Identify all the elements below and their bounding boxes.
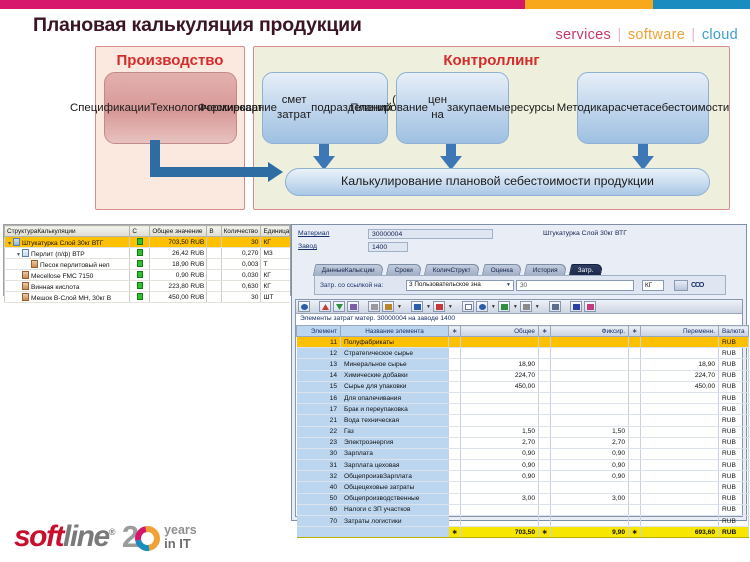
topbar-segment-pink [0, 0, 525, 9]
cell-variable [641, 404, 719, 415]
topbar-segment-orange [525, 0, 653, 9]
cell-dot-1 [449, 493, 461, 504]
arrow-down-icon-3 [632, 144, 654, 170]
cell-currency: RUB [719, 471, 749, 482]
status-chip-green [137, 249, 143, 256]
topbar-segment-blue [653, 0, 750, 9]
cell-currency: RUB [719, 426, 749, 437]
cell-dot-2 [539, 448, 551, 459]
refresh-icon[interactable] [476, 301, 488, 312]
cell-dot-3 [629, 381, 641, 392]
cell-dot-1 [449, 504, 461, 515]
cell-dot-1 [449, 482, 461, 493]
grid-row[interactable]: 31Зарплата цеховая0,900,90RUB [297, 460, 749, 471]
status-chip-green [137, 238, 143, 245]
cell-fixed [551, 415, 629, 426]
cell-name: Затраты логистики [341, 516, 449, 527]
table-header-row: СтруктураКалькуляции С Общее значение В … [5, 226, 290, 237]
cell-currency: RUB [719, 370, 749, 381]
row-status [130, 281, 150, 292]
row-v [207, 237, 221, 248]
col-v[interactable]: В [207, 226, 221, 237]
row-quantity: 0,030 [221, 270, 261, 281]
table-row[interactable]: Песок перлитовый неп18,90 RUB0,003Т [5, 259, 290, 270]
cell-dot-2 [539, 460, 551, 471]
total-total: 703,50 [461, 527, 539, 538]
cell-fixed: 3,00 [551, 493, 629, 504]
cell-dot-2 [539, 337, 551, 348]
cell-element: 22 [297, 426, 341, 437]
chart-icon[interactable] [570, 301, 582, 312]
filter-icon[interactable] [347, 301, 359, 312]
new-doc-icon[interactable] [462, 301, 474, 312]
cell-fixed [551, 381, 629, 392]
cell-variable [641, 460, 719, 471]
row-value: 26,42 RUB [150, 248, 207, 259]
find-icon[interactable] [298, 301, 310, 312]
refresh-caret-icon[interactable]: ▼ [491, 304, 496, 310]
grid-col-fixed[interactable]: Фиксир. [551, 326, 629, 337]
grid-row[interactable]: 22Газ1,501,50RUB [297, 426, 749, 437]
lookup-button[interactable] [674, 280, 688, 291]
top-color-bar [0, 0, 750, 9]
material-input[interactable]: 30000004 [368, 229, 493, 239]
cost-elements-grid[interactable]: ▼ ▼ ▼ ▼ ▼ ▼ Элементы затрат матер. 30000… [295, 299, 743, 517]
cell-name: Общецеховые затраты [341, 482, 449, 493]
cell-variable [641, 415, 719, 426]
cell-total [461, 348, 539, 359]
cell-total [461, 337, 539, 348]
unit-input[interactable]: КГ [642, 280, 664, 291]
grid-row[interactable]: 11ПолуфабрикатыRUB [297, 337, 749, 348]
row-name[interactable]: Песок перлитовый неп [5, 259, 130, 270]
cell-variable [641, 493, 719, 504]
row-quantity: 30 [221, 292, 261, 303]
plant-input[interactable]: 1400 [368, 242, 408, 252]
logo-wordmark: softline® [14, 520, 114, 554]
logo-registered: ® [109, 527, 114, 537]
sort-asc-icon[interactable] [319, 301, 331, 312]
cell-total [461, 482, 539, 493]
status-chip-green [137, 293, 143, 300]
cell-dot-1 [449, 381, 461, 392]
cell-dot-3 [629, 460, 641, 471]
cell-element: 32 [297, 471, 341, 482]
material-label: Материал [298, 230, 368, 237]
row-name[interactable]: ▾Штукатурка Слой 30кг ВТГ [5, 237, 130, 248]
cell-dot-3 [629, 471, 641, 482]
total-variable: 693,60 [641, 527, 719, 538]
cell-fixed [551, 482, 629, 493]
field-row-plant: Завод 1400 [298, 241, 740, 252]
cell-dot-2 [539, 404, 551, 415]
cell-dot-1 [449, 359, 461, 370]
col-structure[interactable]: СтруктураКалькуляции [5, 226, 130, 237]
sub-item-icon [22, 293, 29, 301]
cell-fixed: 0,90 [551, 448, 629, 459]
cell-dot-2 [539, 359, 551, 370]
cell-dot-3 [629, 493, 641, 504]
row-name[interactable]: Мешок В-Слой МН, 30кг В [5, 292, 130, 303]
grid-total-row: ∗703,50∗9,90∗693,60RUB [297, 527, 749, 538]
grid-toolbar[interactable]: ▼ ▼ ▼ ▼ ▼ ▼ [296, 300, 742, 314]
cell-dot-2 [539, 370, 551, 381]
arrow-down-icon-2 [440, 144, 462, 170]
row-value: 223,80 RUB [150, 281, 207, 292]
cell-element: 40 [297, 482, 341, 493]
chevron-down-icon: ▼ [506, 280, 511, 290]
cell-currency: RUB [719, 493, 749, 504]
subtotal-icon[interactable] [382, 301, 394, 312]
row-status [130, 237, 150, 248]
table-row[interactable]: Mecellose FMC 71500,90 RUB0,030КГ [5, 270, 290, 281]
cell-variable [641, 482, 719, 493]
production-panel-title: Производство [96, 52, 244, 69]
cell-dot-3 [629, 404, 641, 415]
grid-row[interactable]: 13Минеральное сырье18,9018,90RUB [297, 359, 749, 370]
grid-col-element[interactable]: Элемент [297, 326, 341, 337]
sap-header-fields: Материал 30000004 Штукатурка Слой 30кг В… [292, 225, 746, 259]
logo-in-it-text: in IT [164, 537, 197, 550]
cell-total [461, 392, 539, 403]
cell-total [461, 516, 539, 527]
cell-currency: RUB [719, 448, 749, 459]
cell-total [461, 404, 539, 415]
settings-icon[interactable] [520, 301, 532, 312]
cell-variable [641, 392, 719, 403]
cell-total: 0,90 [461, 460, 539, 471]
status-chip-green [137, 271, 143, 278]
cell-currency: RUB [719, 404, 749, 415]
grid-row[interactable]: 30Зарплата0,900,90RUB [297, 448, 749, 459]
cell-dot-1 [449, 392, 461, 403]
cell-dot-3 [629, 482, 641, 493]
cell-dot-1 [449, 415, 461, 426]
cell-dot-3 [629, 370, 641, 381]
cell-fixed [551, 337, 629, 348]
cco-label[interactable]: ССО [691, 282, 703, 289]
cell-name: Газ [341, 426, 449, 437]
cell-fixed: 1,50 [551, 426, 629, 437]
row-v [207, 248, 221, 259]
percent-icon[interactable] [433, 301, 445, 312]
cell-dot-3 [629, 348, 641, 359]
cell-dot-3 [629, 516, 641, 527]
cell-dot-2 [539, 516, 551, 527]
cell-variable [641, 448, 719, 459]
cell-total: 3,00 [461, 493, 539, 504]
page-title: Плановая калькуляция продукции [33, 14, 362, 37]
cell-name: Минеральное сырье [341, 359, 449, 370]
cell-dot-1 [449, 404, 461, 415]
cell-fixed [551, 359, 629, 370]
cell-name: Вода техническая [341, 415, 449, 426]
grid-row[interactable]: 14Химические добавки224,70224,70RUB [297, 370, 749, 381]
cell-dot-3 [629, 359, 641, 370]
cell-currency: RUB [719, 392, 749, 403]
cell-total: 2,70 [461, 437, 539, 448]
layout-icon[interactable] [549, 301, 561, 312]
row-unit: Т [261, 259, 290, 270]
grid-col-name[interactable]: Название элемента [341, 326, 449, 337]
field-row-material: Материал 30000004 Штукатурка Слой 30кг В… [298, 228, 740, 239]
row-quantity: 30 [221, 237, 261, 248]
col-unit[interactable]: Единица [261, 226, 290, 237]
col-quantity[interactable]: Количество [221, 226, 261, 237]
sort-desc-icon[interactable] [333, 301, 345, 312]
row-v [207, 259, 221, 270]
plant-label: Завод [298, 243, 368, 250]
cell-variable [641, 337, 719, 348]
cell-dot-2 [539, 482, 551, 493]
cell-fixed [551, 370, 629, 381]
cost-reference-label: Затр. со ссылкой на: [320, 282, 406, 289]
cell-variable: 450,00 [641, 381, 719, 392]
cell-dot-2 [539, 348, 551, 359]
cell-dot-2 [539, 426, 551, 437]
logo-years-block: years in IT [164, 524, 197, 550]
cell-variable [641, 471, 719, 482]
row-unit: ШТ [261, 292, 290, 303]
row-value: 0,90 RUB [150, 270, 207, 281]
row-v [207, 270, 221, 281]
quantity-input[interactable]: 30 [516, 280, 634, 291]
cell-name: Сырье для упаковки [341, 381, 449, 392]
cell-name: ОбщепроизвЗарплата [341, 471, 449, 482]
grid-col-variable[interactable]: Переменн. [641, 326, 719, 337]
grid-col-total[interactable]: Общее [461, 326, 539, 337]
cell-currency: RUB [719, 359, 749, 370]
cell-currency: RUB [719, 437, 749, 448]
cell-name: Зарплата [341, 448, 449, 459]
logo-line: line [63, 520, 109, 553]
status-chip-green [137, 282, 143, 289]
sub-item-icon [22, 282, 29, 290]
cell-dot-3 [629, 437, 641, 448]
logo-years-text: years [164, 524, 197, 537]
grid-header-row: Элемент Название элемента ∗ Общее ∗ Фикс… [297, 326, 749, 337]
cell-variable: 224,70 [641, 370, 719, 381]
row-quantity: 0,270 [221, 248, 261, 259]
info-icon[interactable] [584, 301, 596, 312]
cell-element: 23 [297, 437, 341, 448]
print-caret-icon[interactable]: ▼ [426, 304, 431, 310]
cell-name: Налоги с ЗП участков [341, 504, 449, 515]
cell-dot-1 [449, 437, 461, 448]
row-name[interactable]: ▾Перлит (п/ф) ВТР [5, 248, 130, 259]
row-quantity: 0,003 [221, 259, 261, 270]
elbow-arrow-icon [150, 140, 295, 185]
settings-caret-icon[interactable]: ▼ [535, 304, 540, 310]
print-icon[interactable] [411, 301, 423, 312]
cell-fixed [551, 516, 629, 527]
cell-dot-2 [539, 415, 551, 426]
cell-fixed [551, 504, 629, 515]
cell-dot-1 [449, 426, 461, 437]
softline-logo: softline® 2 years in IT [14, 519, 314, 559]
cell-currency: RUB [719, 504, 749, 515]
cell-element: 11 [297, 337, 341, 348]
controlling-panel-title: Контроллинг [254, 52, 729, 69]
logo-anniversary: 2 [122, 519, 160, 555]
document-icon [22, 249, 29, 257]
cell-dot-1 [449, 471, 461, 482]
table-row[interactable]: Мешок В-Слой МН, 30кг В450,00 RUB30ШТ [5, 292, 290, 303]
box-costing-methodology: Методикарасчетасебестоимости [577, 72, 709, 144]
col-value[interactable]: Общее значение [150, 226, 207, 237]
cell-currency: RUB [719, 516, 749, 527]
row-name[interactable]: Винная кислота [5, 281, 130, 292]
box-price-planning: Планированиецен назакупаемыересурсы [396, 72, 509, 144]
cell-element: 14 [297, 370, 341, 381]
cell-currency: RUB [719, 337, 749, 348]
grid-row[interactable]: 50Общепроизводственные3,003,00RUB [297, 493, 749, 504]
grid-row[interactable]: 12Стратегическое сырьеRUB [297, 348, 749, 359]
table-row[interactable]: Винная кислота223,80 RUB0,630КГ [5, 281, 290, 292]
cell-dot-3 [629, 415, 641, 426]
cell-total: 0,90 [461, 448, 539, 459]
cell-currency: RUB [719, 460, 749, 471]
cell-currency: RUB [719, 348, 749, 359]
cell-element: 12 [297, 348, 341, 359]
cell-name: Стратегическое сырье [341, 348, 449, 359]
cell-variable [641, 504, 719, 515]
cell-element: 30 [297, 448, 341, 459]
table-row[interactable]: ▾Штукатурка Слой 30кг ВТГ703,50 RUB30КГ [5, 237, 290, 248]
cell-dot-3 [629, 392, 641, 403]
cell-dot-2 [539, 437, 551, 448]
cell-fixed [551, 392, 629, 403]
cell-name: Полуфабрикаты [341, 337, 449, 348]
export-icon[interactable] [498, 301, 510, 312]
cell-total [461, 504, 539, 515]
cell-element: 60 [297, 504, 341, 515]
cell-total: 450,00 [461, 381, 539, 392]
cell-name: Для опалечивания [341, 392, 449, 403]
cell-element: 13 [297, 359, 341, 370]
grid-col-currency[interactable]: Валюта [719, 326, 749, 337]
cell-dot-2 [539, 381, 551, 392]
cell-dot-2 [539, 471, 551, 482]
row-v [207, 281, 221, 292]
cell-fixed [551, 348, 629, 359]
grid-row[interactable]: 60Налоги с ЗП участковRUB [297, 504, 749, 515]
cell-element: 17 [297, 404, 341, 415]
row-quantity: 0,630 [221, 281, 261, 292]
grid-col-dot-2[interactable]: ∗ [539, 326, 551, 337]
sub-item-icon [22, 271, 29, 279]
export-caret-icon[interactable]: ▼ [513, 304, 518, 310]
grid-row[interactable]: 15Сырье для упаковки450,00450,00RUB [297, 381, 749, 392]
logo-soft: soft [14, 520, 63, 553]
cell-dot-1 [449, 348, 461, 359]
cell-dot-2 [539, 493, 551, 504]
col-status[interactable]: С [130, 226, 150, 237]
grid-caption: Элементы затрат матер. 30000004 на завод… [296, 314, 742, 325]
cost-reference-pane: Затр. со ссылкой на: 3 Пользовательское … [314, 275, 726, 295]
cell-dot-2 [539, 392, 551, 403]
grid-row[interactable]: 23Электроэнергия2,702,70RUB [297, 437, 749, 448]
cell-fixed: 0,90 [551, 471, 629, 482]
cell-fixed: 2,70 [551, 437, 629, 448]
cell-dot-1 [449, 337, 461, 348]
grid-row[interactable]: 17Брак и переупаковкаRUB [297, 404, 749, 415]
box-product-costing-result: Калькулирование плановой себестоимости п… [285, 168, 710, 196]
cell-currency: RUB [719, 415, 749, 426]
cell-dot-1 [449, 460, 461, 471]
row-status [130, 270, 150, 281]
sub-item-icon [31, 260, 38, 268]
row-unit: М3 [261, 248, 290, 259]
material-description: Штукатурка Слой 30кг ВТГ [543, 230, 627, 237]
cell-total: 1,50 [461, 426, 539, 437]
row-unit: КГ [261, 270, 290, 281]
total-name [341, 527, 449, 538]
cost-reference-select-value: 3 Пользовательское зна [409, 280, 481, 290]
cell-name: Общепроизводственные [341, 493, 449, 504]
cell-variable: 18,90 [641, 359, 719, 370]
subtotal-caret-icon[interactable]: ▼ [397, 304, 402, 310]
grid-row[interactable]: 70Затраты логистикиRUB [297, 516, 749, 527]
cell-dot-1 [449, 448, 461, 459]
cell-currency: RUB [719, 482, 749, 493]
cell-variable [641, 516, 719, 527]
total-dot-3: ∗ [629, 527, 641, 538]
grid-row[interactable]: 32ОбщепроизвЗарплата0,900,90RUB [297, 471, 749, 482]
process-diagram: Производство Контроллинг СпецификацииТех… [0, 40, 750, 215]
cell-dot-3 [629, 448, 641, 459]
total-fixed: 9,90 [551, 527, 629, 538]
cell-dot-1 [449, 516, 461, 527]
row-unit: КГ [261, 281, 290, 292]
total-currency: RUB [719, 527, 749, 538]
grid-row[interactable]: 21Вода техническаяRUB [297, 415, 749, 426]
cell-dot-3 [629, 426, 641, 437]
cell-fixed: 0,90 [551, 460, 629, 471]
grid-col-dot-3[interactable]: ∗ [629, 326, 641, 337]
grid-col-dot-1[interactable]: ∗ [449, 326, 461, 337]
row-value: 450,00 RUB [150, 292, 207, 303]
cell-name: Брак и переупаковка [341, 404, 449, 415]
percent-caret-icon[interactable]: ▼ [448, 304, 453, 310]
cell-variable [641, 348, 719, 359]
cell-fixed [551, 404, 629, 415]
cost-reference-select[interactable]: 3 Пользовательское зна ▼ [406, 280, 514, 291]
total-icon[interactable] [368, 301, 380, 312]
row-value: 703,50 RUB [150, 237, 207, 248]
cell-dot-3 [629, 504, 641, 515]
cell-name: Зарплата цеховая [341, 460, 449, 471]
grid-row[interactable]: 40Общецеховые затратыRUB [297, 482, 749, 493]
row-name[interactable]: Mecellose FMC 7150 [5, 270, 130, 281]
cell-currency: RUB [719, 381, 749, 392]
row-status [130, 248, 150, 259]
row-status [130, 292, 150, 303]
costing-structure-table[interactable]: СтруктураКалькуляции С Общее значение В … [3, 224, 291, 296]
cell-variable [641, 426, 719, 437]
row-unit: КГ [261, 237, 290, 248]
sap-costing-window[interactable]: Материал 30000004 Штукатурка Слой 30кг В… [291, 224, 747, 521]
material-icon [13, 238, 20, 246]
grid-row[interactable]: 16Для опалечиванияRUB [297, 392, 749, 403]
row-v [207, 292, 221, 303]
row-value: 18,90 RUB [150, 259, 207, 270]
cell-element: 21 [297, 415, 341, 426]
cell-element: 50 [297, 493, 341, 504]
table-row[interactable]: ▾Перлит (п/ф) ВТР26,42 RUB0,270М3 [5, 248, 290, 259]
total-dot-2: ∗ [539, 527, 551, 538]
cell-dot-2 [539, 504, 551, 515]
